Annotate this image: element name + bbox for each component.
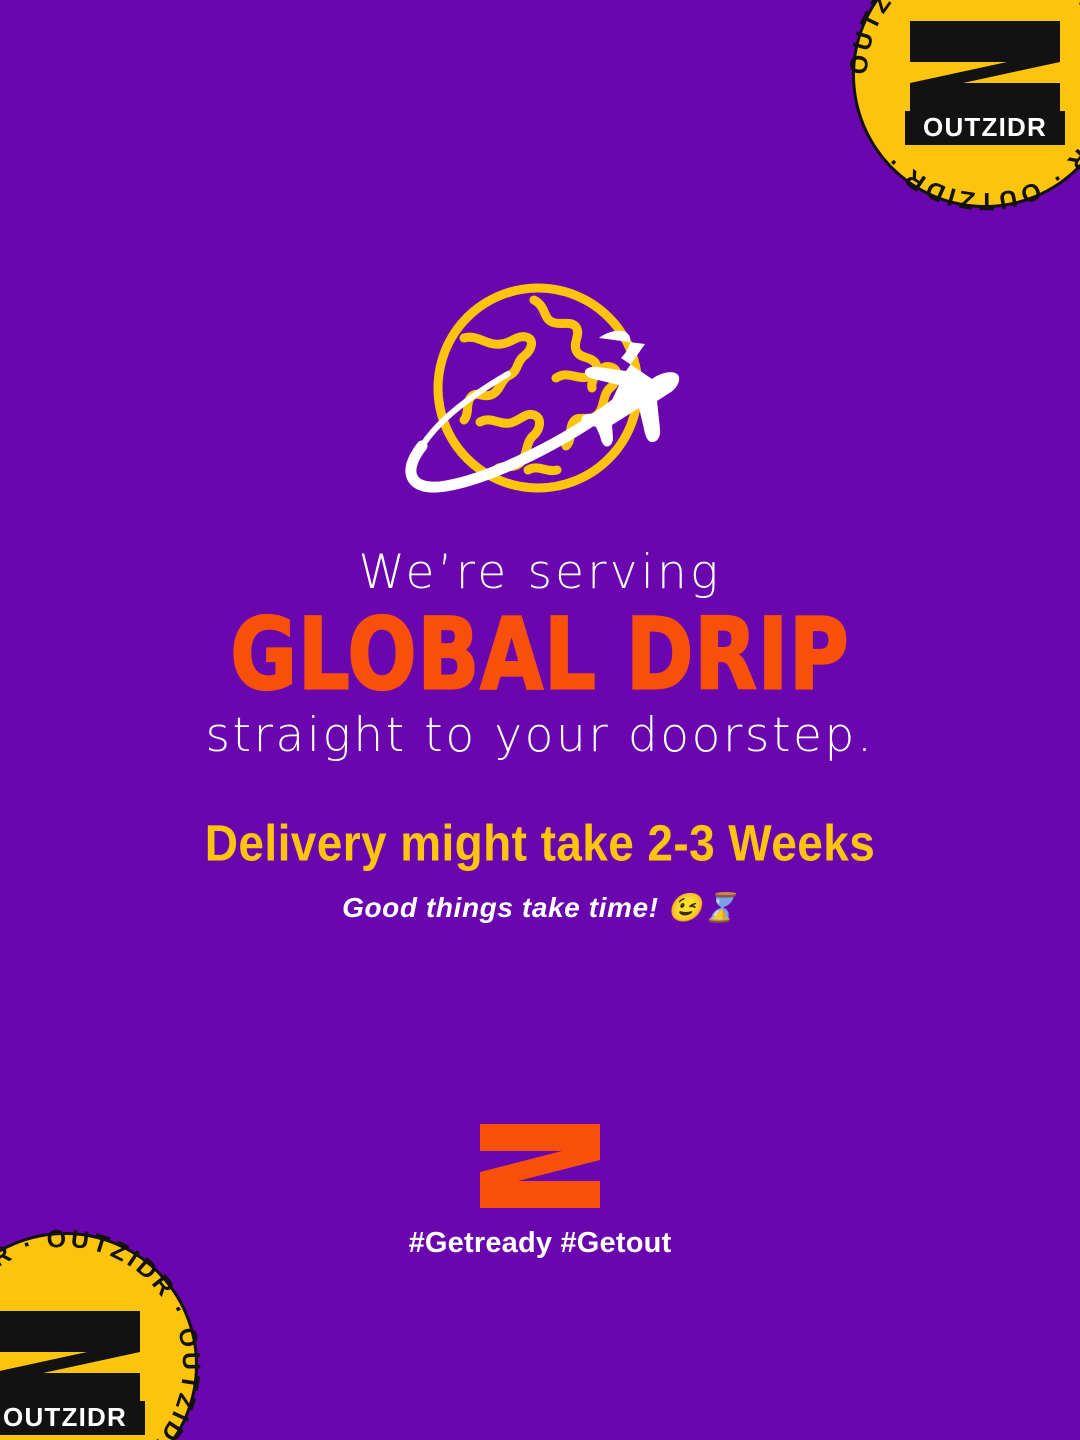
delivery-block: Delivery might take 2-3 Weeks Good thing… xyxy=(0,818,1080,924)
headline-kicker: We’re serving xyxy=(0,548,1080,599)
delivery-headline: Delivery might take 2-3 Weeks xyxy=(0,815,1080,871)
hero-icon-wrap xyxy=(0,278,1080,518)
badge-inner-wordmark-text: OUTZIDR xyxy=(923,112,1047,142)
globe-with-airplane-icon xyxy=(360,278,720,518)
outzidr-seal-badge-top-right: OUTZIDR · OUTZIDR · OUTZIDR · OUTZIDR · … xyxy=(835,0,1080,225)
delivery-subline: Good things take time! 😉⌛ xyxy=(0,891,1080,924)
badge-inner-wordmark: OUTZIDR xyxy=(905,111,1065,145)
outzidr-seal-badge-bottom-left: OUTZIDR · OUTZIDR · OUTZIDR · OUTZIDR · … xyxy=(0,1215,215,1440)
headline-brand: GLOBAL DRIP xyxy=(0,606,1080,705)
badge-inner-wordmark: OUTZIDR xyxy=(0,1401,145,1435)
headline-block: We’re serving GLOBAL DRIP straight to yo… xyxy=(0,548,1080,762)
headline-tail: straight to your doorstep. xyxy=(0,710,1080,763)
footer-logo-wrap xyxy=(0,1122,1080,1210)
poster-canvas: OUTZIDR · OUTZIDR · OUTZIDR · OUTZIDR · … xyxy=(0,0,1080,1440)
outzidr-z-logo xyxy=(478,1122,602,1210)
badge-inner-wordmark-text: OUTZIDR xyxy=(3,1402,127,1432)
